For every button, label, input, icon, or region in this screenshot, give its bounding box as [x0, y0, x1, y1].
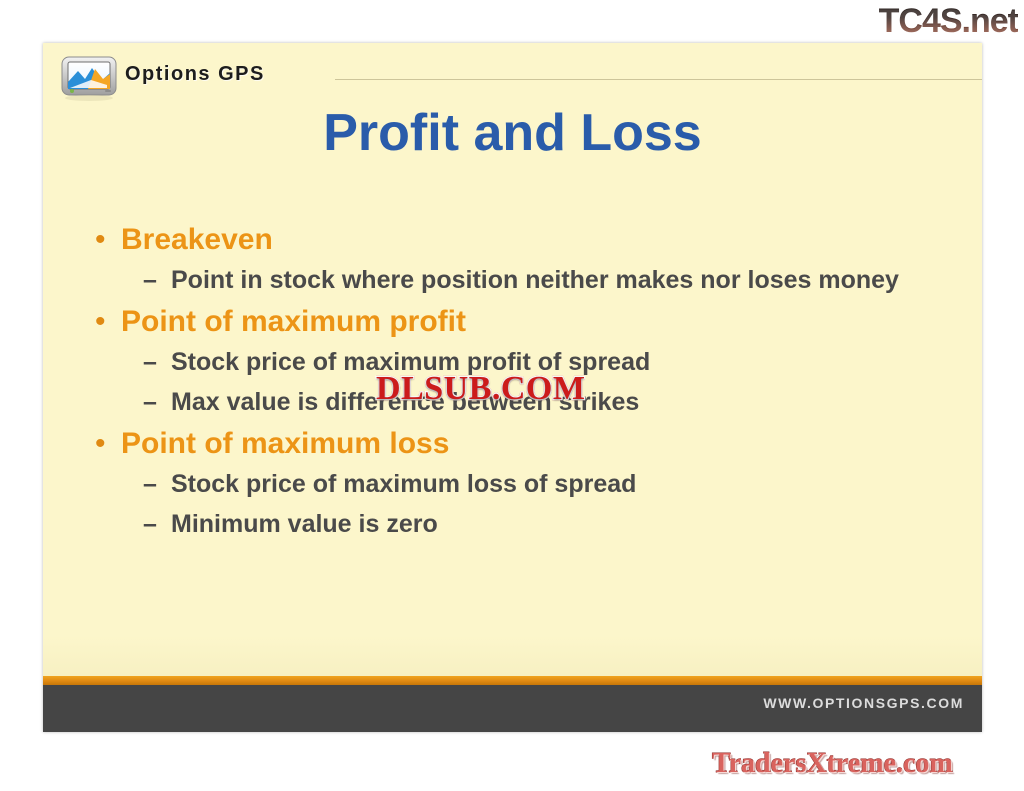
- bullet-dot-icon: •: [95, 424, 121, 464]
- bullet-dash-icon: –: [143, 344, 171, 380]
- bullet-dash-icon: –: [143, 466, 171, 502]
- bullet-dash-icon: –: [143, 506, 171, 542]
- bullet-dash-icon: –: [143, 384, 171, 420]
- list-item: • Point of maximum loss: [95, 424, 955, 464]
- tradersxtreme-logo: TradersXtreme.com: [712, 748, 953, 780]
- list-item: – Minimum value is zero: [143, 506, 955, 542]
- list-item: • Breakeven: [95, 220, 955, 260]
- bullet-label: Point of maximum profit: [121, 302, 466, 342]
- brand-label: Options GPS: [125, 63, 265, 86]
- bullet-dot-icon: •: [95, 302, 121, 342]
- list-item: – Stock price of maximum loss of spread: [143, 466, 955, 502]
- sub-bullet-label: Stock price of maximum loss of spread: [171, 466, 636, 502]
- slide: Options GPS Profit and Loss • Breakeven …: [43, 43, 982, 732]
- header-divider: [335, 79, 982, 80]
- tc4s-watermark: TC4S.net: [879, 2, 1018, 40]
- bullet-label: Breakeven: [121, 220, 273, 260]
- sub-bullet-label: Point in stock where position neither ma…: [171, 262, 899, 298]
- bullet-dash-icon: –: [143, 262, 171, 298]
- slide-footer: WWW.OPTIONSGPS.COM: [43, 685, 982, 732]
- footer-url: WWW.OPTIONSGPS.COM: [763, 695, 964, 711]
- bullet-group: • Breakeven – Point in stock where posit…: [95, 220, 955, 298]
- gps-device-icon: [61, 55, 123, 101]
- bullet-label: Point of maximum loss: [121, 424, 449, 464]
- page-title: Profit and Loss: [43, 103, 982, 163]
- slide-header: Options GPS: [43, 43, 982, 105]
- bullet-dot-icon: •: [95, 220, 121, 260]
- sub-bullet-label: Minimum value is zero: [171, 506, 438, 542]
- bullet-group: • Point of maximum loss – Stock price of…: [95, 424, 955, 542]
- list-item: – Point in stock where position neither …: [143, 262, 955, 298]
- list-item: • Point of maximum profit: [95, 302, 955, 342]
- dlsub-watermark: DLSUB.COM: [376, 370, 585, 408]
- footer-accent-bar: [43, 676, 982, 685]
